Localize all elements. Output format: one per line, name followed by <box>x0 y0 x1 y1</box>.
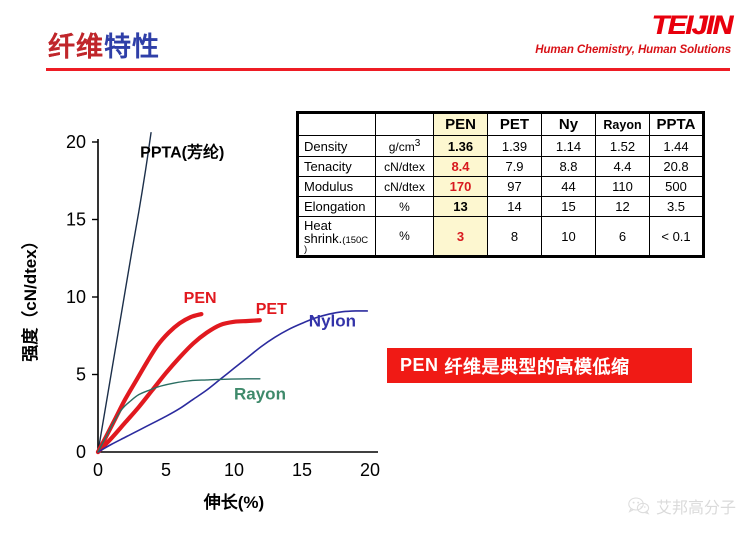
th-ppta: PPTA <box>650 113 704 136</box>
row-unit-heat-shrink: % <box>376 217 434 257</box>
y-axis-tick-label: 5 <box>76 365 86 385</box>
table-row: Modulus cN/dtex 170 97 44 110 500 <box>298 177 704 197</box>
teijin-logo: TEIJIN <box>652 10 732 41</box>
heat-shrink-line2: shrink.(150C <box>304 232 370 246</box>
page-title-red: 纤维 <box>48 32 104 62</box>
cell-modulus-ppta: 500 <box>650 177 704 197</box>
cell-elongation-pen: 13 <box>434 197 488 217</box>
row-label-heat-shrink: Heat shrink.(150C ) <box>298 217 376 257</box>
curve-label-nylon: Nylon <box>309 311 356 330</box>
y-axis-tick-label: 20 <box>66 132 86 152</box>
cell-tenacity-pet: 7.9 <box>488 157 542 177</box>
cell-density-ny: 1.14 <box>542 136 596 157</box>
th-ny: Ny <box>542 113 596 136</box>
heat-shrink-word: shrink. <box>304 231 342 246</box>
table-row: Density g/cm3 1.36 1.39 1.14 1.52 1.44 <box>298 136 704 157</box>
watermark-label: 艾邦高分子 <box>656 494 736 518</box>
banner-pen-label: PEN <box>400 355 439 376</box>
cell-density-ppta: 1.44 <box>650 136 704 157</box>
row-unit-modulus: cN/dtex <box>376 177 434 197</box>
th-pet: PET <box>488 113 542 136</box>
th-pen: PEN <box>434 113 488 136</box>
page-title-blue: 特性 <box>104 32 160 62</box>
table-row: Heat shrink.(150C ) % 3 8 10 6 < 0.1 <box>298 217 704 257</box>
table-row: Elongation % 13 14 15 12 3.5 <box>298 197 704 217</box>
cell-heat-shrink-rayon: 6 <box>596 217 650 257</box>
table-row: Tenacity cN/dtex 8.4 7.9 8.8 4.4 20.8 <box>298 157 704 177</box>
cell-modulus-pen: 170 <box>434 177 488 197</box>
cell-tenacity-rayon: 4.4 <box>596 157 650 177</box>
curve-label-ppta: PPTA(芳纶) <box>140 143 224 162</box>
curve-label-rayon: Rayon <box>234 384 286 403</box>
x-axis-title: 伸长(%) <box>203 492 264 512</box>
cell-elongation-rayon: 12 <box>596 197 650 217</box>
cell-heat-shrink-ny: 10 <box>542 217 596 257</box>
cell-density-pen: 1.36 <box>434 136 488 157</box>
watermark: 艾邦高分子 <box>628 494 736 518</box>
cell-elongation-ppta: 3.5 <box>650 197 704 217</box>
cell-elongation-pet: 14 <box>488 197 542 217</box>
wechat-icon <box>628 497 650 515</box>
fiber-property-table: PEN PET Ny Rayon PPTA Density g/cm3 1.36… <box>296 111 705 258</box>
chart-series-nylon <box>98 311 367 452</box>
cell-tenacity-pen: 8.4 <box>434 157 488 177</box>
heat-shrink-line1: Heat <box>304 219 370 232</box>
table-header-row: PEN PET Ny Rayon PPTA <box>298 113 704 136</box>
conclusion-banner: PEN 纤维是典型的高模低缩 <box>387 348 692 383</box>
x-axis-tick-label: 20 <box>360 460 380 480</box>
cell-density-pet: 1.39 <box>488 136 542 157</box>
y-axis-tick-label: 15 <box>66 210 86 230</box>
curve-label-pen: PEN <box>184 290 217 307</box>
cell-tenacity-ny: 8.8 <box>542 157 596 177</box>
cell-modulus-ny: 44 <box>542 177 596 197</box>
x-axis-tick-label: 5 <box>161 460 171 480</box>
banner-chinese-text: 纤维是典型的高模低缩 <box>445 353 630 379</box>
y-axis-tick-label: 10 <box>66 287 86 307</box>
heat-shrink-line3: ) <box>304 246 370 253</box>
th-blank-unit <box>376 113 434 136</box>
row-unit-elongation: % <box>376 197 434 217</box>
chart-series-pen <box>98 314 201 452</box>
cell-density-rayon: 1.52 <box>596 136 650 157</box>
page-title: 纤维特性 <box>48 34 160 61</box>
th-rayon: Rayon <box>596 113 650 136</box>
heat-shrink-temp: (150C <box>342 235 368 246</box>
row-label-density: Density <box>298 136 376 157</box>
curve-label-pet: PET <box>256 301 287 318</box>
y-axis-tick-label: 0 <box>76 442 86 462</box>
row-label-tenacity: Tenacity <box>298 157 376 177</box>
cell-heat-shrink-ppta: < 0.1 <box>650 217 704 257</box>
slide-canvas: TEIJIN Human Chemistry, Human Solutions … <box>0 0 750 532</box>
brand-tagline: Human Chemistry, Human Solutions <box>535 44 731 56</box>
y-axis-title: 强度（cN/dtex） <box>20 232 40 361</box>
title-underline <box>46 68 730 71</box>
x-axis-tick-label: 0 <box>93 460 103 480</box>
x-axis-tick-label: 15 <box>292 460 312 480</box>
th-blank-property <box>298 113 376 136</box>
row-label-elongation: Elongation <box>298 197 376 217</box>
cell-tenacity-ppta: 20.8 <box>650 157 704 177</box>
row-unit-density: g/cm3 <box>376 136 434 157</box>
cell-modulus-pet: 97 <box>488 177 542 197</box>
cell-heat-shrink-pet: 8 <box>488 217 542 257</box>
cell-elongation-ny: 15 <box>542 197 596 217</box>
row-label-modulus: Modulus <box>298 177 376 197</box>
cell-modulus-rayon: 110 <box>596 177 650 197</box>
x-axis-tick-label: 10 <box>224 460 244 480</box>
row-unit-tenacity: cN/dtex <box>376 157 434 177</box>
cell-heat-shrink-pen: 3 <box>434 217 488 257</box>
